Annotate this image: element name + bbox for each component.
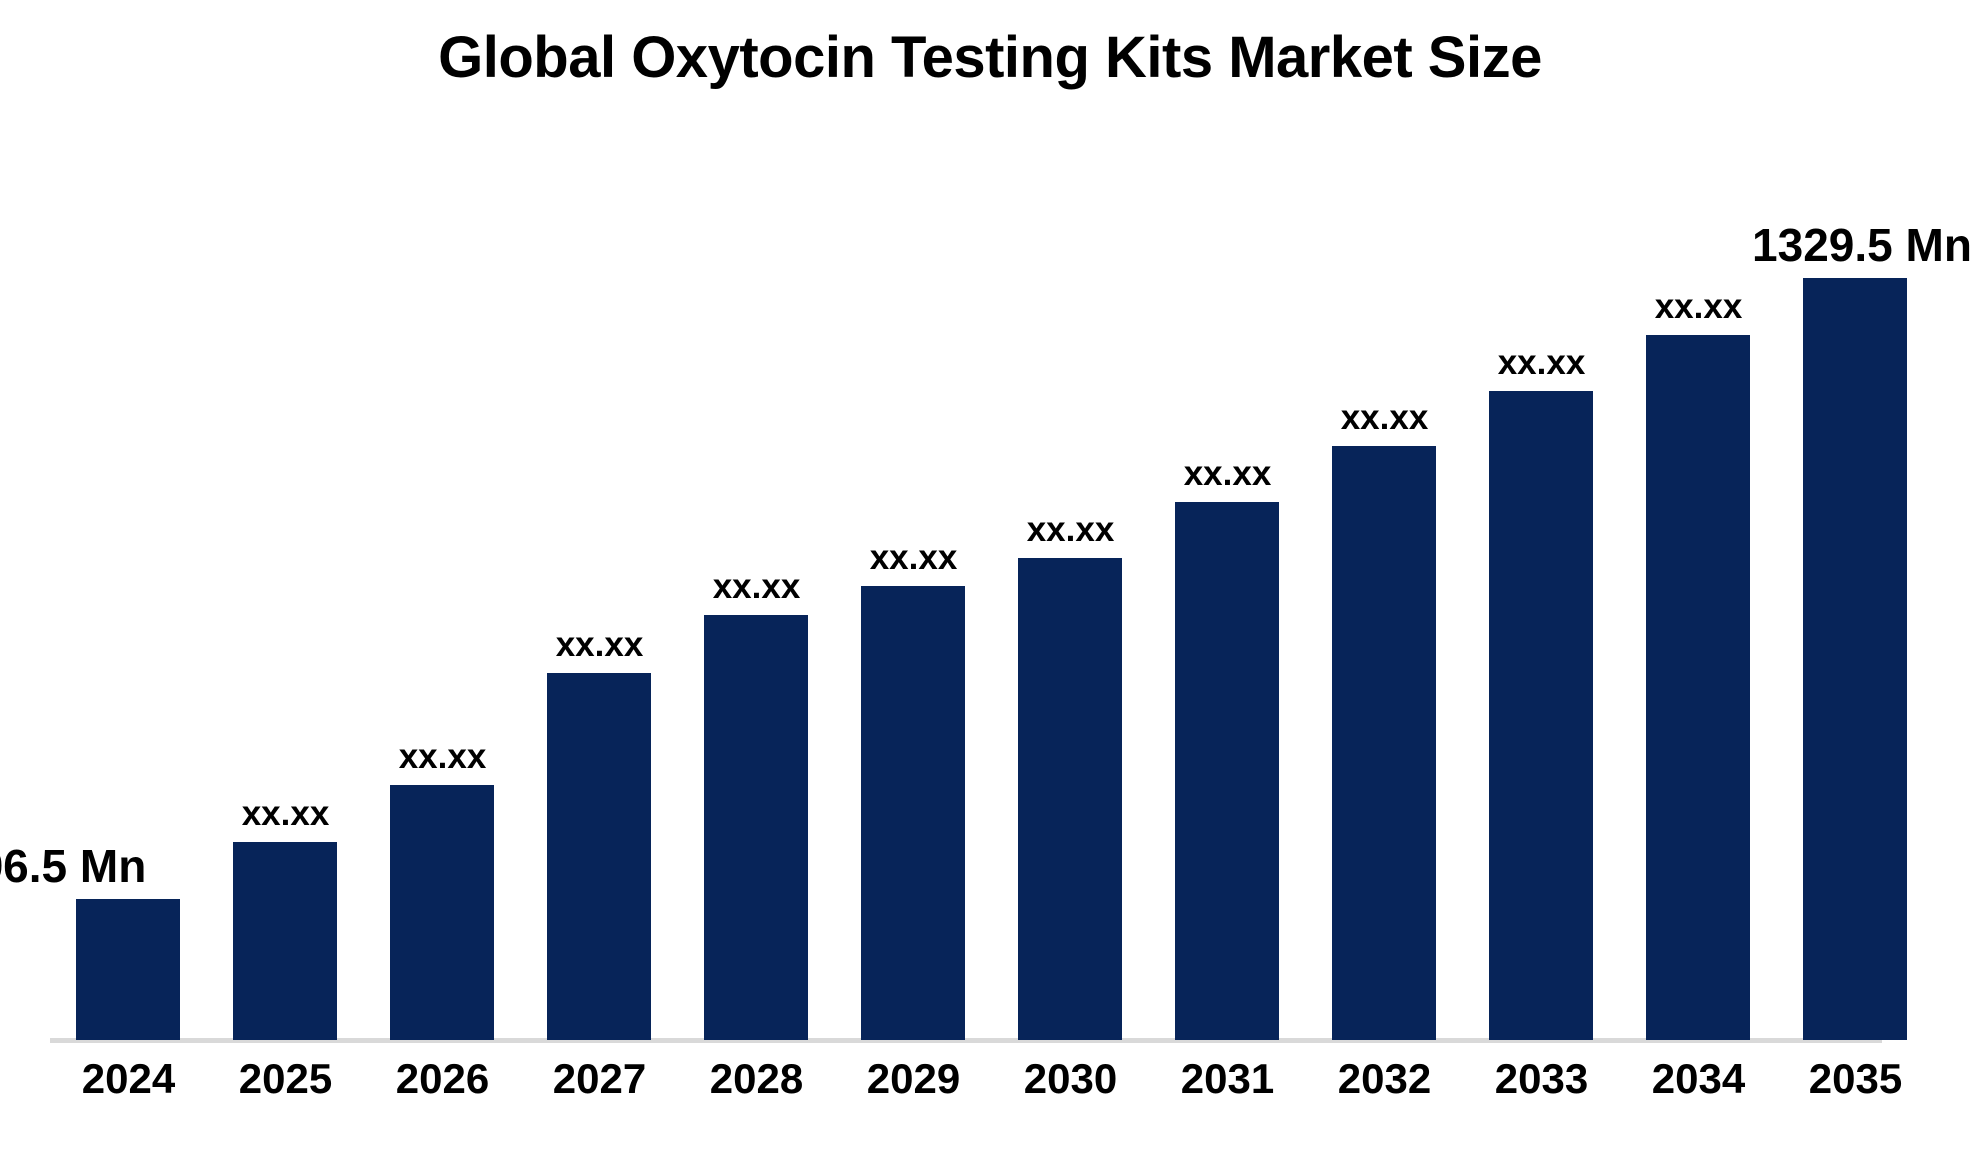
x-axis-tick-2035: 2035 [1777, 1055, 1934, 1103]
bar[interactable] [704, 615, 808, 1040]
bar-value-label: 1329.5 Mn [1717, 218, 1980, 272]
x-axis-tick-2029: 2029 [835, 1055, 992, 1103]
bar[interactable] [1646, 335, 1750, 1040]
bar[interactable] [1175, 502, 1279, 1040]
bar-group-2026: xx.xx2026 [364, 0, 521, 1155]
bar-chart: Global Oxytocin Testing Kits Market Size… [0, 0, 1980, 1155]
x-axis-tick-2025: 2025 [207, 1055, 364, 1103]
bar-group-2033: xx.xx2033 [1463, 0, 1620, 1155]
bar[interactable] [1803, 278, 1907, 1040]
x-axis-tick-2032: 2032 [1306, 1055, 1463, 1103]
bar[interactable] [861, 586, 965, 1040]
bar[interactable] [233, 842, 337, 1040]
x-axis-tick-2034: 2034 [1620, 1055, 1777, 1103]
bar-group-2030: xx.xx2030 [992, 0, 1149, 1155]
bar-group-2031: xx.xx2031 [1149, 0, 1306, 1155]
x-axis-tick-2024: 2024 [50, 1055, 207, 1103]
bar[interactable] [1489, 391, 1593, 1040]
bar[interactable] [547, 673, 651, 1040]
x-axis-tick-2033: 2033 [1463, 1055, 1620, 1103]
bar-group-2034: xx.xx2034 [1620, 0, 1777, 1155]
bar-group-2025: xx.xx2025 [207, 0, 364, 1155]
bar[interactable] [1018, 558, 1122, 1040]
bar-group-2032: xx.xx2032 [1306, 0, 1463, 1155]
bar-group-2029: xx.xx2029 [835, 0, 992, 1155]
bar[interactable] [390, 785, 494, 1040]
x-axis-tick-2027: 2027 [521, 1055, 678, 1103]
bar-group-2024: 696.5 Mn2024 [50, 0, 207, 1155]
x-axis-tick-2030: 2030 [992, 1055, 1149, 1103]
x-axis-tick-2031: 2031 [1149, 1055, 1306, 1103]
x-axis-tick-2028: 2028 [678, 1055, 835, 1103]
bar[interactable] [76, 899, 180, 1040]
bar-group-2035: 1329.5 Mn2035 [1777, 0, 1934, 1155]
bar[interactable] [1332, 446, 1436, 1040]
plot-area: 696.5 Mn2024xx.xx2025xx.xx2026xx.xx2027x… [0, 0, 1980, 1155]
x-axis-tick-2026: 2026 [364, 1055, 521, 1103]
